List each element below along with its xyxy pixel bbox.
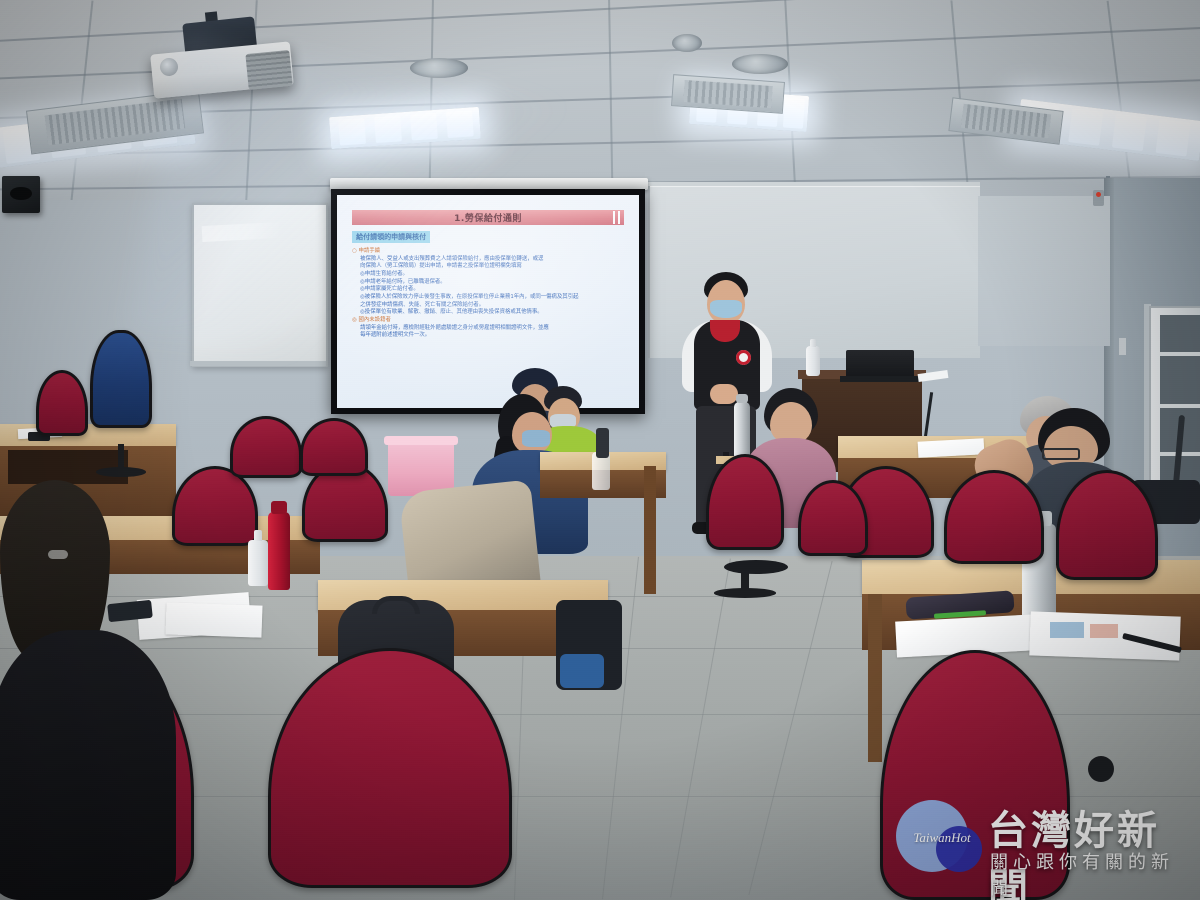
white-bottle bbox=[248, 540, 268, 586]
slide-bullet: ◎投保單位有歇業、解散、撤銷、廢止、其他理由喪失投保資格或其他情事。 bbox=[352, 309, 624, 317]
slide-bullet: ◎被保險人於保險效力停止後發生事故，在原投保單位停止業務1年內，或同一傷病及其引… bbox=[352, 294, 624, 302]
smoke-detector bbox=[672, 34, 702, 52]
photo-scene: 1.勞保給付通則 給付請領的申請與核付 ○ 申請手續 被保險人、受益人或支出殯葬… bbox=[0, 0, 1200, 900]
chair-right-tall[interactable] bbox=[1056, 470, 1158, 580]
slide-title-tick bbox=[613, 211, 615, 224]
chair-row2-a[interactable] bbox=[172, 466, 258, 546]
slide-title-tick bbox=[618, 211, 620, 224]
slide-bullet: ◎申請家屬死亡給付者。 bbox=[352, 286, 624, 294]
slide-title: 1.勞保給付通則 bbox=[454, 211, 522, 224]
blue-item-under-desk bbox=[560, 654, 604, 688]
projector-vent bbox=[245, 50, 292, 90]
slide-bullet: 每年遞附前述證明文件一次。 bbox=[352, 332, 624, 340]
handout-color-block bbox=[1090, 624, 1118, 638]
slide-bullet: ◎ 國內未設籍者 bbox=[352, 317, 624, 325]
slide-bullet: ◎申請生育給付者。 bbox=[352, 271, 624, 279]
podium-water-bottle bbox=[806, 346, 820, 376]
attendee-glasses-icon bbox=[1042, 448, 1080, 460]
presenter-hands bbox=[710, 384, 738, 404]
light-switch bbox=[1119, 338, 1126, 355]
chair-blue[interactable] bbox=[90, 330, 152, 428]
chair-row2-d[interactable] bbox=[300, 418, 368, 476]
backpack-handle bbox=[372, 596, 420, 614]
ceiling-speaker-left bbox=[410, 58, 468, 78]
slide-title-bar: 1.勞保給付通則 bbox=[352, 210, 624, 225]
cabinet-shelf bbox=[1160, 352, 1200, 356]
wall-speaker bbox=[2, 176, 40, 213]
laptop-base[interactable] bbox=[840, 376, 920, 382]
chair-right-foreground[interactable] bbox=[880, 650, 1070, 900]
presenter-emblem-icon bbox=[736, 350, 751, 365]
desk-center-leg bbox=[644, 466, 656, 594]
handout-color-block bbox=[1050, 622, 1084, 638]
attendee-hair-tie bbox=[48, 550, 68, 559]
handout-left-2 bbox=[165, 602, 262, 637]
slide-bullet: ○ 申請手續 bbox=[352, 248, 624, 256]
chair-mid-aisle[interactable] bbox=[706, 454, 784, 550]
chair-row2-c[interactable] bbox=[230, 416, 302, 478]
projector-screen: 1.勞保給付通則 給付請領的申請與核付 ○ 申請手續 被保險人、受益人或支出殯葬… bbox=[331, 189, 645, 414]
attendee-dark-top bbox=[0, 630, 176, 900]
whiteboard-left bbox=[192, 203, 328, 367]
slide-bullet: 向保險人（勞工保險局）提出申請，申請書之投保單位證明欄免填寫 bbox=[352, 263, 624, 271]
projected-slide: 1.勞保給付通則 給付請領的申請與核付 ○ 申請手續 被保險人、受益人或支出殯葬… bbox=[337, 195, 639, 408]
cabinet-shelf bbox=[1160, 404, 1200, 408]
chair-right-front[interactable] bbox=[798, 480, 868, 556]
slide-subtitle: 給付請領的申請與核付 bbox=[352, 231, 430, 243]
whiteboard-tray bbox=[190, 361, 326, 366]
chair-foreground-center[interactable] bbox=[268, 648, 512, 888]
alarm-indicator-icon bbox=[1093, 190, 1104, 206]
chair-base-star bbox=[724, 560, 788, 574]
chair-back-left[interactable] bbox=[36, 370, 88, 436]
pink-storage-box-lid bbox=[384, 436, 458, 445]
ceiling-speaker-right bbox=[732, 54, 788, 74]
chair-caster bbox=[1088, 756, 1114, 782]
dark-bottle-center bbox=[596, 428, 609, 458]
laptop[interactable] bbox=[846, 350, 914, 378]
attendee-front-left bbox=[0, 480, 180, 900]
presenter-face-mask bbox=[710, 300, 742, 318]
slide-bullet-list: ○ 申請手續 被保險人、受益人或支出殯葬費之人請領保險給付，應由投保單位轉送，或… bbox=[352, 248, 624, 340]
red-thermos bbox=[268, 512, 290, 590]
attendee-face-mask bbox=[522, 430, 550, 447]
wall-panel-far-right bbox=[978, 196, 1110, 346]
chair-right-mid[interactable] bbox=[944, 470, 1044, 564]
